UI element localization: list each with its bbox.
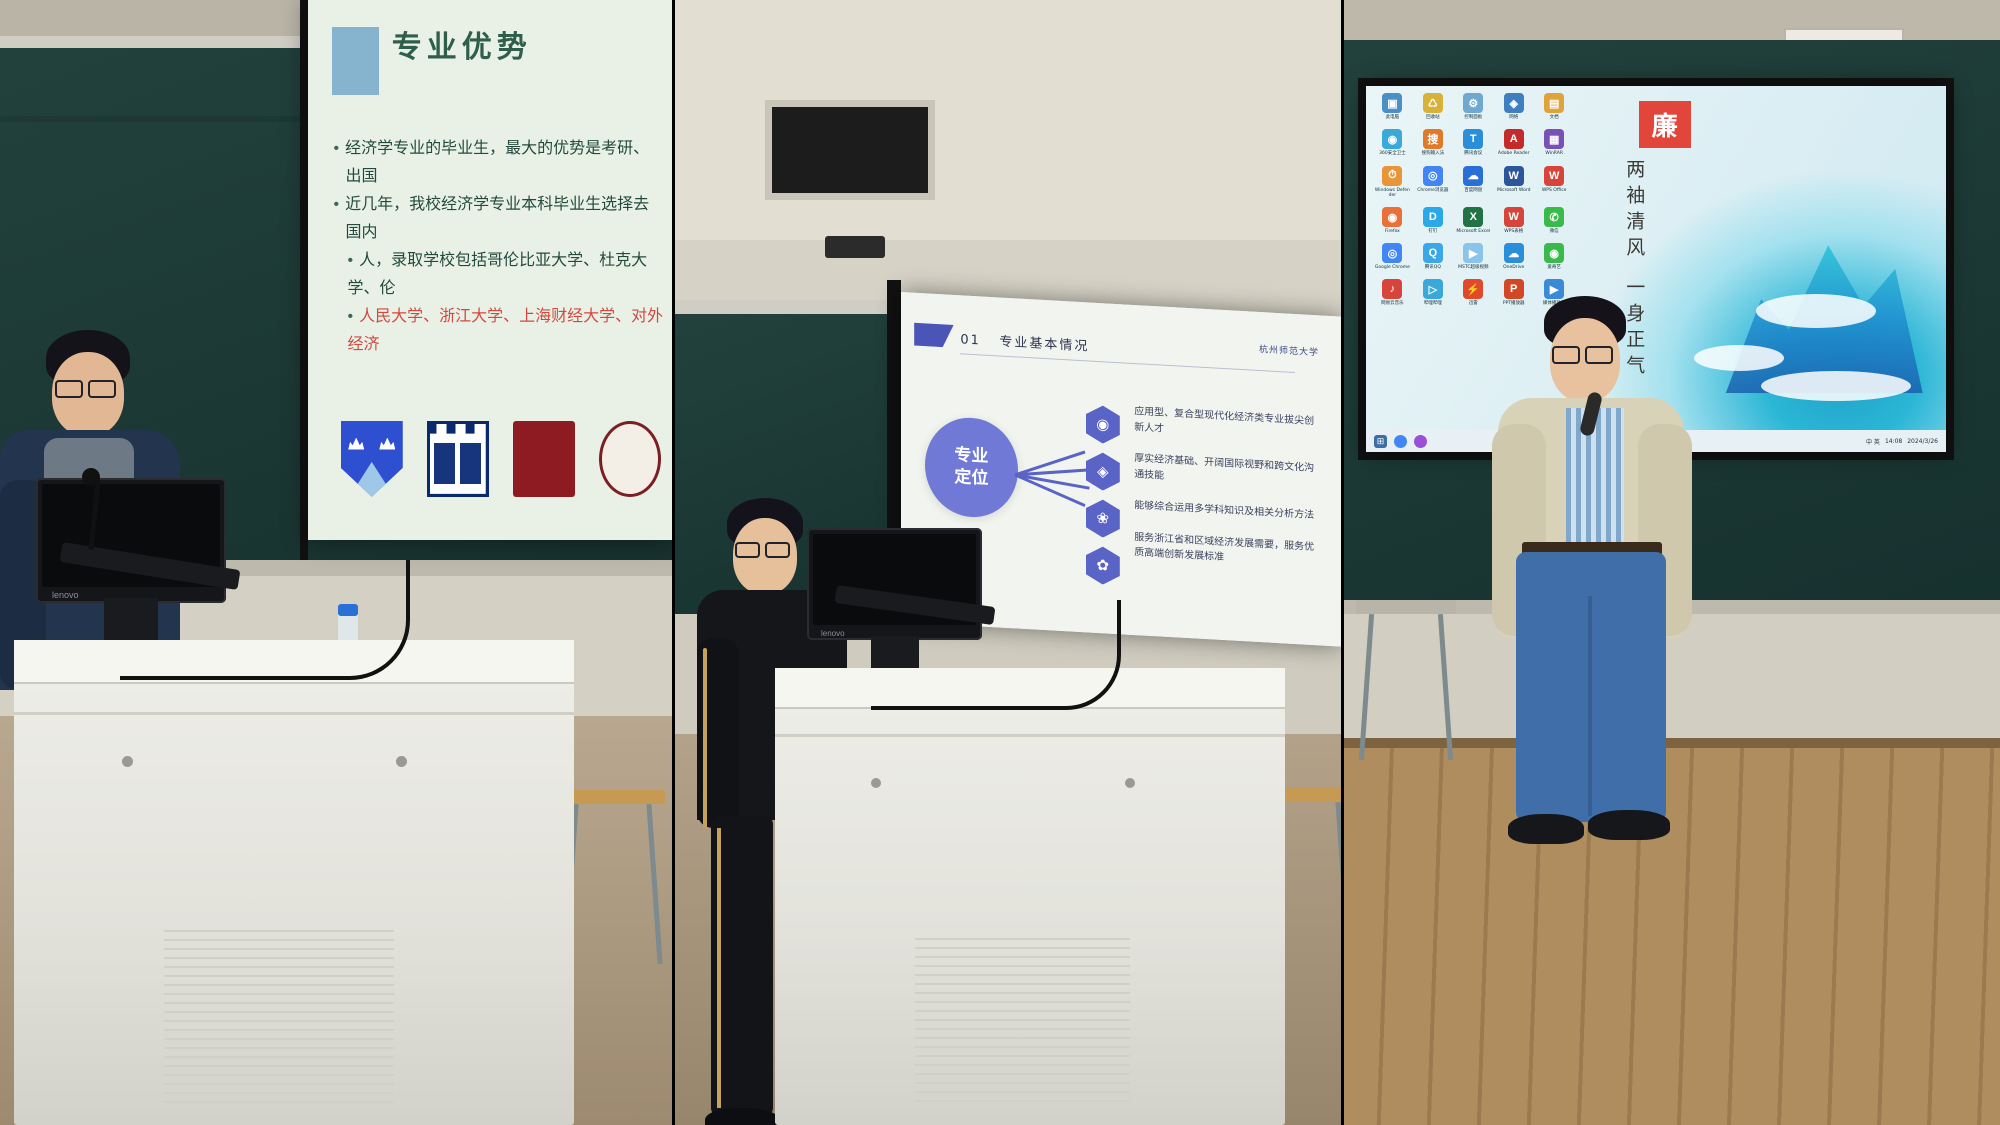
desktop-icon-glyph: ▦ (1544, 129, 1564, 149)
wallpaper-cloud (1756, 294, 1876, 328)
ceiling-fixture (825, 236, 885, 258)
pants-stripe (717, 828, 721, 1108)
desktop-icon-glyph: ◉ (1382, 129, 1402, 149)
ceiling-vent (765, 100, 935, 200)
desktop-icon[interactable]: ♪网易云音乐 (1375, 279, 1410, 306)
crest-hku (513, 421, 575, 497)
slide-section-heading: 01 专业基本情况 (960, 328, 1089, 354)
desktop-icon-glyph: D (1423, 207, 1443, 227)
desktop-icon[interactable]: XMicrosoft Excel (1456, 207, 1491, 234)
desktop-icon[interactable]: ♺回收站 (1415, 93, 1450, 120)
podium-seam (775, 734, 1285, 737)
circle-label-2: 定位 (954, 467, 988, 490)
desktop-icon[interactable]: ✆微信 (1536, 207, 1571, 234)
panel-center: 01 专业基本情况 杭州师范大学 专业 定位 ◉ ◈ (672, 0, 1344, 1125)
wallpaper-cloud (1761, 371, 1911, 401)
desktop-icon-label: 腾讯会议 (1456, 151, 1491, 156)
podium-screw (1125, 778, 1135, 788)
eye-icon: ◉ (1096, 415, 1109, 434)
desktop-icon-glyph: ▤ (1544, 93, 1564, 113)
desktop-icon-label: WPS表格 (1496, 229, 1531, 234)
desktop-icon[interactable]: ◎Chrome浏览器 (1415, 166, 1450, 198)
desktop-icon-glyph: Q (1423, 243, 1443, 263)
stool-right (1356, 600, 1456, 760)
crest-pane-left (434, 443, 455, 484)
screen-edge-left (300, 0, 308, 560)
taskbar-chrome-icon[interactable] (1394, 435, 1407, 448)
desktop-icon-label: 网络 (1496, 115, 1531, 120)
desktop-icon-label: Microsoft Word (1496, 188, 1531, 193)
crown-icon (348, 438, 364, 450)
seal-badge: 廉 (1639, 101, 1691, 149)
gear-icon: ✿ (1097, 556, 1110, 575)
desktop-icon[interactable]: Q腾讯QQ (1415, 243, 1450, 270)
desktop-icon-glyph: W (1504, 166, 1524, 186)
desktop-icon-label: WPS Office (1536, 188, 1571, 193)
desktop-icon-label: Firefox (1375, 229, 1410, 234)
podium-center[interactable] (775, 668, 1285, 1125)
desktop-icon-glyph: ▶ (1463, 243, 1483, 263)
glasses (55, 380, 83, 398)
desktop-icon-grid: ▣此电脑♺回收站⚙控制面板◈网络▤文档◉360安全卫士搜搜狗输入法T腾讯会议AA… (1375, 93, 1572, 306)
desktop-icon[interactable]: ◉爱奇艺 (1536, 243, 1571, 270)
desktop-icon-glyph: ◈ (1504, 93, 1524, 113)
desktop-icon[interactable]: WWPS表格 (1496, 207, 1531, 234)
desktop-icon-glyph: 搜 (1423, 129, 1443, 149)
panel-right: 廉 两袖清风 一身正气 ▣此电脑♺回收站⚙控制面板◈网络▤文档◉360安全卫士搜… (1344, 0, 2000, 1125)
desktop-icon[interactable]: ⏱Windows Defender (1375, 166, 1410, 198)
crest-triangle (349, 462, 394, 497)
desktop-icon-label: WinRAR (1536, 151, 1571, 156)
photo-collage: 专业优势 经济学专业的毕业生，最大的优势是考研、出国 近几年，我校经济学专业本科… (0, 0, 2000, 1125)
desktop-icon-glyph: ▣ (1382, 93, 1402, 113)
desktop-icon[interactable]: ◉360安全卫士 (1375, 129, 1410, 156)
desktop-icon-label: 回收站 (1415, 115, 1450, 120)
desktop-icon-label: 此电脑 (1375, 115, 1410, 120)
hex-node-shield-icon[interactable]: ◈ (1086, 452, 1120, 492)
slide-bullets: 经济学专业的毕业生，最大的优势是考研、出国 近几年，我校经济学专业本科毕业生选择… (333, 135, 664, 359)
node-text-1: 应用型、复合型现代化经济类专业拔尖创新人才 (1134, 404, 1323, 446)
taskbar-media-icon[interactable] (1414, 435, 1427, 448)
desktop-icon-glyph: ♪ (1382, 279, 1402, 299)
crown-icon (379, 438, 395, 450)
circle-label-1: 专业 (954, 445, 988, 468)
slide-title: 专业优势 (392, 22, 532, 66)
mic-cable (871, 600, 1121, 710)
pants-seam (1588, 596, 1592, 816)
desktop-icon-glyph: ☁ (1463, 166, 1483, 186)
connector-fan (1015, 417, 1090, 533)
glasses (1585, 346, 1613, 364)
slide-tab-accent (914, 322, 954, 347)
desktop-icon[interactable]: ◉Firefox (1375, 207, 1410, 234)
desktop-icon-glyph: ◉ (1382, 207, 1402, 227)
stool-left (560, 790, 665, 965)
desktop-icon[interactable]: ☁百度网盘 (1456, 166, 1491, 198)
hex-node-gear-icon[interactable]: ✿ (1086, 546, 1120, 586)
bullet-4: 人民大学、浙江大学、上海财经大学、对外经济 (333, 303, 664, 359)
monitor-brand-label: lenovo (52, 590, 79, 600)
desktop-icon-glyph: ♺ (1423, 93, 1443, 113)
desktop-icon-label: Windows Defender (1375, 188, 1410, 198)
stool-leg (1438, 614, 1453, 760)
desktop-icon[interactable]: ▣此电脑 (1375, 93, 1410, 120)
desktop-icon[interactable]: ◎Google Chrome (1375, 243, 1410, 270)
org-logo: 杭州师范大学 (1259, 342, 1319, 358)
tray-date[interactable]: 2024/3/26 (1907, 438, 1938, 445)
calligraphy-column-1: 两袖清风 (1621, 159, 1648, 263)
shoe-right (1588, 810, 1670, 840)
podium-left[interactable] (14, 640, 574, 1125)
podium-vent (915, 938, 1130, 1108)
glasses (88, 380, 116, 398)
shoe (705, 1108, 779, 1125)
tray-clock[interactable]: 14:08 (1885, 438, 1902, 445)
slide-circle-node: 专业 定位 (925, 415, 1017, 519)
glasses (765, 542, 790, 558)
desktop-icon[interactable]: WWPS Office (1536, 166, 1571, 198)
desktop-icon-glyph: ☁ (1504, 243, 1524, 263)
desktop-icon-label: 哔哩哔哩 (1415, 301, 1450, 306)
shield-icon: ◈ (1097, 462, 1109, 481)
desktop-icon-glyph: W (1544, 166, 1564, 186)
start-button[interactable]: ⊞ (1374, 435, 1387, 448)
desktop-icon[interactable]: WMicrosoft Word (1496, 166, 1531, 198)
glasses (1552, 346, 1580, 364)
desktop-icon-glyph: W (1504, 207, 1524, 227)
desktop-icon-label: 钉钉 (1415, 229, 1450, 234)
stool-seat (560, 790, 665, 804)
board-seam-left (0, 116, 300, 122)
hex-node-eye-icon[interactable]: ◉ (1086, 405, 1120, 445)
slide-accent-block (332, 27, 379, 95)
desktop-icon[interactable]: D钉钉 (1415, 207, 1450, 234)
desktop-icon[interactable]: T腾讯会议 (1456, 129, 1491, 156)
desktop-icon[interactable]: ☁OneDrive (1496, 243, 1531, 270)
crest-duke (427, 421, 489, 497)
desktop-icon-glyph: ▷ (1423, 279, 1443, 299)
crest-peking (599, 421, 661, 497)
glasses (735, 542, 760, 558)
desktop-icon[interactable]: AAdobe Reader (1496, 129, 1531, 156)
desktop-icon-glyph: ◎ (1382, 243, 1402, 263)
section-title: 专业基本情况 (999, 334, 1089, 354)
speaker-right (1492, 296, 1692, 856)
podium-seam (14, 712, 574, 715)
desktop-icon-glyph: T (1463, 129, 1483, 149)
slide-left: 专业优势 经济学专业的毕业生，最大的优势是考研、出国 近几年，我校经济学专业本科… (308, 0, 672, 540)
node-text-list: 应用型、复合型现代化经济类专业拔尖创新人才 厚实经济基础、开阔国际视野和跨文化沟… (1134, 404, 1323, 587)
podium-vent (164, 930, 394, 1110)
desktop-icon-label: Microsoft Excel (1456, 229, 1491, 234)
desktop-icon-label: OneDrive (1496, 265, 1531, 270)
desktop-icon[interactable]: ▦WinRAR (1536, 129, 1571, 156)
desktop-icon-label: 搜狗输入法 (1415, 151, 1450, 156)
desktop-icon-glyph: A (1504, 129, 1524, 149)
mic-cable (120, 560, 410, 680)
desktop-icon-glyph: ⚙ (1463, 93, 1483, 113)
desktop-icon-label: 360安全卫士 (1375, 151, 1410, 156)
tray-input-indicator[interactable]: 中 英 (1866, 437, 1880, 446)
podium-screw (871, 778, 881, 788)
node-text-2: 厚实经济基础、开阔国际视野和跨文化沟通技能 (1134, 451, 1323, 493)
desktop-icon-label: 爱奇艺 (1536, 265, 1571, 270)
slide-rule (960, 353, 1294, 373)
desktop-icon-label: 网易云音乐 (1375, 301, 1410, 306)
stool-leg (1359, 614, 1374, 760)
panel-left: 专业优势 经济学专业的毕业生，最大的优势是考研、出国 近几年，我校经济学专业本科… (0, 0, 672, 1125)
desktop-icon[interactable]: ▷哔哩哔哩 (1415, 279, 1450, 306)
podium-screw (122, 756, 133, 767)
desktop-icon[interactable]: ⚡迅雷 (1456, 279, 1491, 306)
desktop-icon-glyph: ◎ (1423, 166, 1443, 186)
desktop-icon-glyph: X (1463, 207, 1483, 227)
desktop-icon-label: Google Chrome (1375, 265, 1410, 270)
desktop-icon-label: 文档 (1536, 115, 1571, 120)
hex-node-globe-icon[interactable]: ❀ (1086, 499, 1120, 539)
shoe-left (1508, 814, 1584, 844)
university-crests (341, 421, 661, 497)
desktop-icon-label: 微信 (1536, 229, 1571, 234)
globe-icon: ❀ (1097, 509, 1110, 528)
stool-leg (646, 804, 662, 964)
crest-pane-right (460, 443, 481, 484)
desktop-icon-glyph: ◉ (1544, 243, 1564, 263)
monitor-brand-label: lenovo (821, 629, 845, 638)
desktop-icon-label: 控制面板 (1456, 115, 1491, 120)
projection-screen-left: 专业优势 经济学专业的毕业生，最大的优势是考研、出国 近几年，我校经济学专业本科… (308, 0, 672, 540)
desktop-icon[interactable]: ▤文档 (1536, 93, 1571, 120)
stool-seat (1356, 600, 1456, 614)
desktop-icon-label: 腾讯QQ (1415, 265, 1450, 270)
connector-line (1015, 473, 1086, 506)
desktop-icon[interactable]: ⚙控制面板 (1456, 93, 1491, 120)
section-number: 01 (960, 332, 981, 348)
bullet-1: 经济学专业的毕业生，最大的优势是考研、出国 (333, 135, 664, 191)
hex-node-list: ◉ ◈ ❀ ✿ (1086, 405, 1126, 595)
desktop-icon-label: 迅雷 (1456, 301, 1491, 306)
desktop-icon-label: MSTC超级视频 (1456, 265, 1491, 270)
desktop-icon-label: 百度网盘 (1456, 188, 1491, 193)
node-text-3: 能够综合运用多学科知识及相关分析方法 (1134, 498, 1323, 524)
desktop-icon[interactable]: ◈网络 (1496, 93, 1531, 120)
desktop-icon-glyph: ✆ (1544, 207, 1564, 227)
desktop-icon-label: Chrome浏览器 (1415, 188, 1450, 193)
podium-screw (396, 756, 407, 767)
bullet-2: 近几年，我校经济学专业本科毕业生选择去国内 (333, 191, 664, 247)
bullet-3: 人，录取学校包括哥伦比亚大学、杜克大学、伦 (333, 247, 664, 303)
desktop-icon-glyph: ⚡ (1463, 279, 1483, 299)
desktop-icon-label: Adobe Reader (1496, 151, 1531, 156)
desktop-icon[interactable]: 搜搜狗输入法 (1415, 129, 1450, 156)
jacket-stripe (703, 648, 707, 828)
crest-columbia (341, 421, 403, 497)
stool-leg (1335, 802, 1344, 962)
desktop-icon[interactable]: ▶MSTC超级视频 (1456, 243, 1491, 270)
node-text-4: 服务浙江省和区域经济发展需要，服务优质高端创新发展标准 (1134, 530, 1323, 572)
system-tray[interactable]: 中 英 14:08 2024/3/26 (1866, 437, 1938, 446)
desktop-icon-glyph: ⏱ (1382, 166, 1402, 186)
